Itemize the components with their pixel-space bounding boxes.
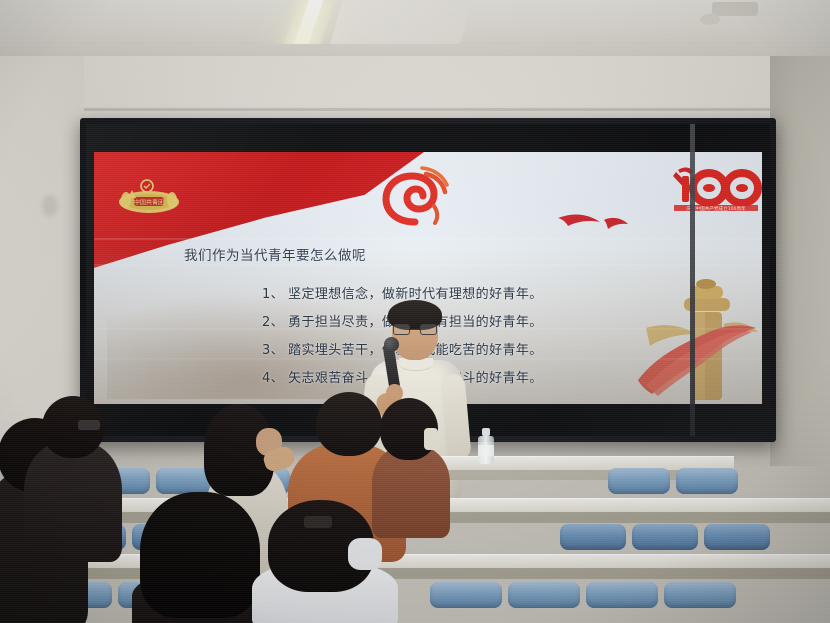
projection-band-1	[94, 238, 762, 240]
lecture-desk-face	[0, 568, 830, 579]
red-doves-icon	[554, 202, 674, 238]
lecture-seat[interactable]	[560, 524, 626, 550]
student-front-masked	[252, 500, 398, 623]
lecture-seat[interactable]	[632, 524, 698, 550]
ceiling-vent	[712, 2, 758, 16]
lecture-seat[interactable]	[676, 468, 738, 494]
slide-title: 我们作为当代青年要怎么做呢	[184, 244, 366, 264]
bullet-number-3: 3、	[262, 343, 284, 358]
right-wall-pillar	[770, 56, 830, 466]
lecture-seat[interactable]	[608, 468, 670, 494]
svg-text:庆祝中国共产党成立100周年: 庆祝中国共产党成立100周年	[686, 205, 746, 212]
lecture-seat[interactable]	[664, 582, 736, 608]
display-right-edge	[690, 124, 695, 436]
red-swirl-logo-icon	[380, 166, 450, 228]
wall-seam	[0, 108, 830, 111]
lecture-seat[interactable]	[704, 524, 770, 550]
face-mask-icon	[348, 538, 382, 570]
lecture-seat[interactable]	[430, 582, 502, 608]
svg-text:中国共青团: 中国共青团	[134, 199, 164, 207]
eyeglasses-icon	[392, 324, 438, 335]
bullet-number-4: 4、	[262, 371, 284, 386]
lecture-desk	[0, 554, 830, 568]
cpc-100th-anniversary-logo-icon: 庆祝中国共产党成立100周年	[666, 162, 762, 218]
lecture-seat[interactable]	[586, 582, 658, 608]
lecture-hall-photo: 中国共青团	[0, 0, 830, 623]
earphone-icon	[424, 428, 438, 450]
lecture-seat[interactable]	[508, 582, 580, 608]
communist-youth-league-emblem-icon: 中国共青团	[114, 176, 184, 220]
bullet-number-2: 2、	[262, 315, 284, 330]
smoke-detector-icon	[700, 14, 720, 25]
wall-mark	[42, 195, 58, 217]
hair-clip-icon	[304, 516, 332, 528]
eyeglasses-icon	[78, 420, 100, 430]
student-with-glasses	[26, 396, 120, 546]
projection-band-2	[94, 264, 762, 266]
bullet-number-1: 1、	[262, 287, 284, 302]
